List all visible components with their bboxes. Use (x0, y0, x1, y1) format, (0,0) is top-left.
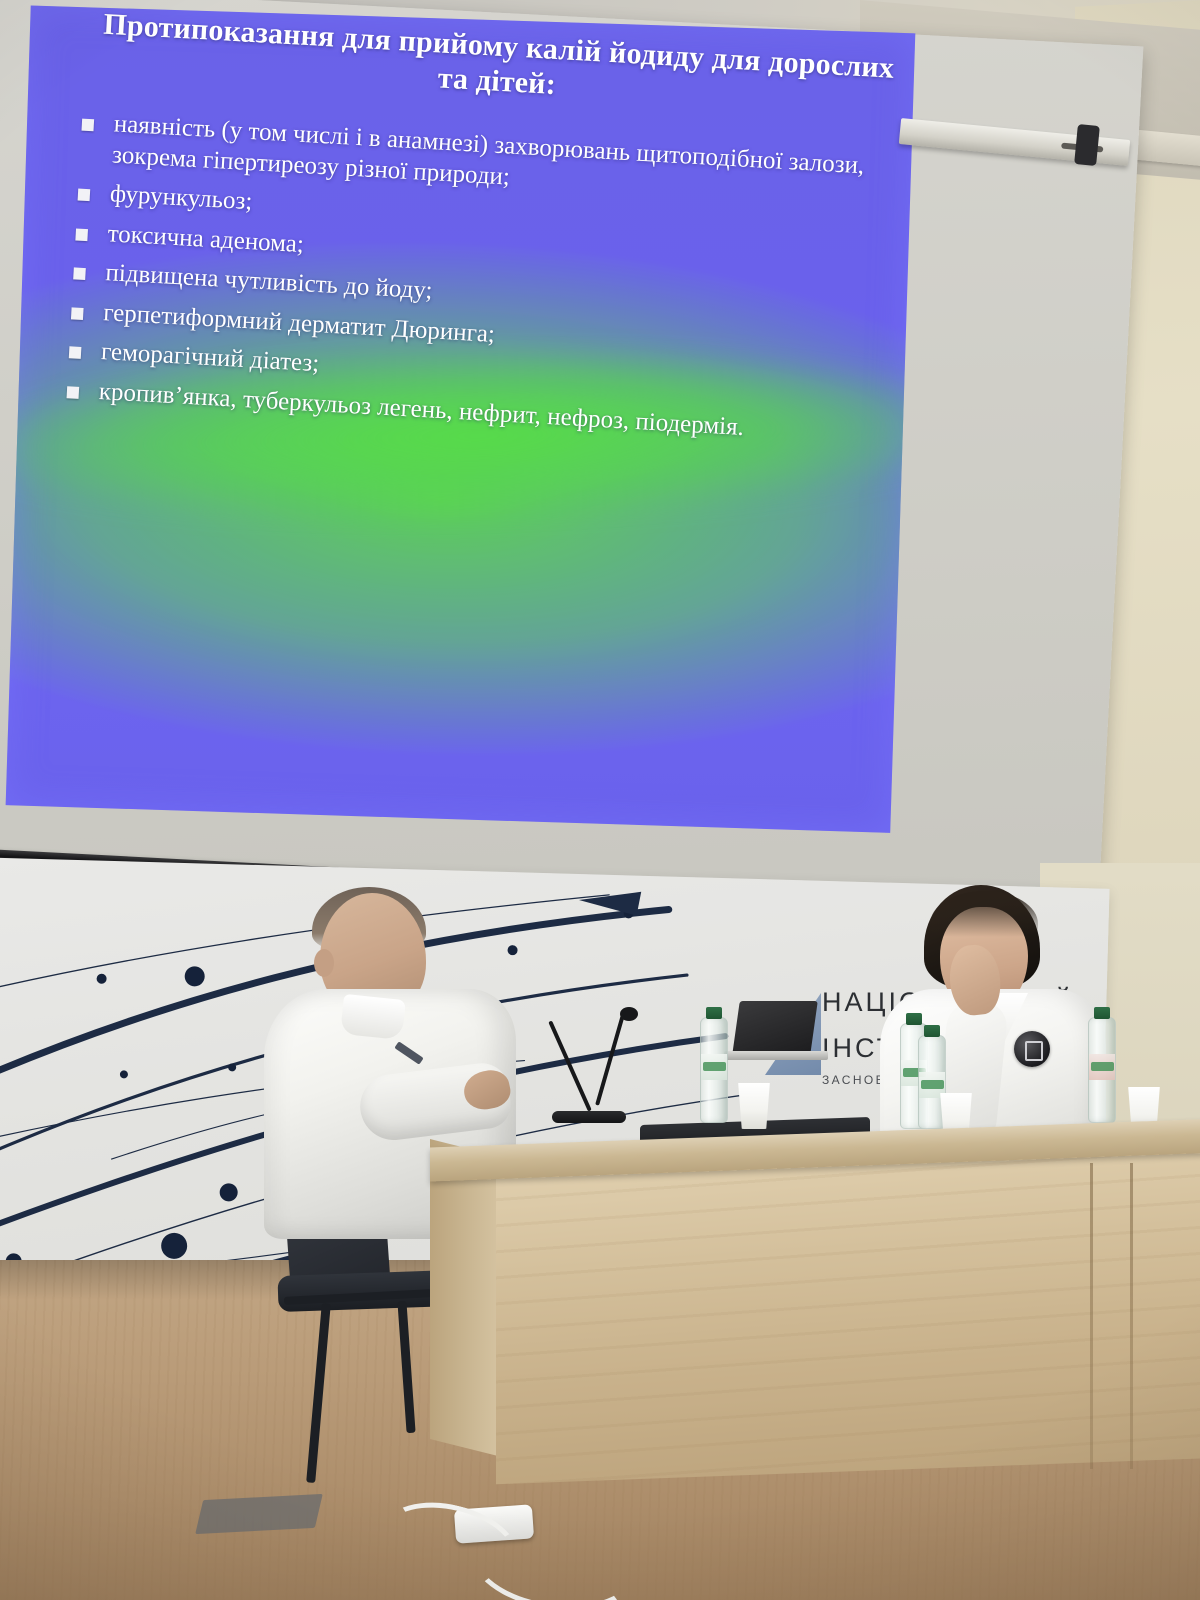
man-collar (340, 994, 406, 1040)
wooden-desk (430, 1133, 1200, 1473)
bullet-marker-icon (69, 346, 82, 359)
bullet-marker-icon (75, 228, 88, 241)
laptop (730, 1001, 826, 1059)
man-ear (314, 949, 334, 977)
presentation-photo: Протипоказання для прийому калій йодиду … (0, 0, 1200, 1600)
water-bottle (1088, 1017, 1116, 1123)
bottle-label-stripe (703, 1062, 726, 1071)
lower-room: НАЦІОНАЛЬНИЙ ІНСТИТУТ ЗАСНОВАНИЙ (0, 845, 1200, 1600)
paper-cup (736, 1083, 772, 1129)
bottle-cap (906, 1013, 922, 1025)
desk-front-panel (496, 1146, 1200, 1485)
bottle-cap (924, 1025, 940, 1037)
water-bottle (918, 1035, 946, 1129)
woman-badge-icon (1014, 1031, 1050, 1067)
laptop-keyboard (724, 1051, 828, 1060)
microphone-base (552, 1111, 626, 1123)
bottle-cap (706, 1007, 722, 1019)
bullet-marker-icon (81, 119, 94, 132)
laptop-screen (732, 1001, 818, 1055)
chair-leg (397, 1301, 415, 1433)
desk-panel-seam (1130, 1163, 1133, 1469)
slide-bullet-list: наявність (у том числі і в анамнезі) зах… (58, 107, 914, 460)
projected-slide: Протипоказання для прийому калій йодиду … (6, 6, 916, 833)
screen-endcap (1074, 124, 1100, 166)
bottle-label-stripe (921, 1080, 944, 1089)
desk-side-panel (430, 1139, 502, 1457)
bullet-marker-icon (71, 307, 84, 320)
bottle-cap (1094, 1007, 1110, 1019)
bullet-marker-icon (78, 189, 91, 202)
bullet-marker-icon (73, 267, 86, 280)
floor-tape (195, 1494, 323, 1534)
bottle-label-stripe (1091, 1062, 1114, 1071)
water-bottle (700, 1017, 728, 1123)
desk-panel-seam (1090, 1163, 1093, 1469)
bullet-marker-icon (67, 386, 80, 399)
